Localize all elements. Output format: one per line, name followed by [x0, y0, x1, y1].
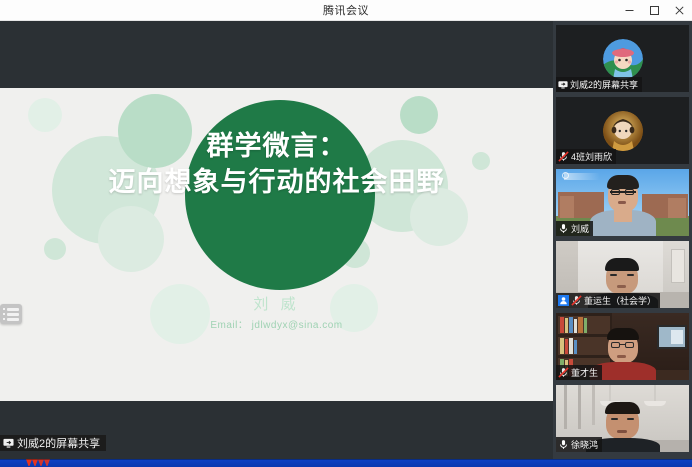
participant-name: 董才生: [571, 366, 598, 379]
tile-label: 董才生: [556, 365, 602, 380]
tile-label: 4班刘雨欣: [556, 149, 616, 164]
avatar: [603, 39, 643, 79]
slide-email: Email： jdlwdyx@sina.com: [0, 316, 553, 331]
slide-author: 刘 威: [0, 293, 553, 314]
microphone-icon: [558, 439, 569, 450]
shared-screen-stage[interactable]: 群学微言： 迈向想象与行动的社会田野 刘 威 Email： jdlwdyx@si…: [0, 21, 553, 459]
toolbar-row: [3, 318, 19, 321]
participant-name: 4班刘雨欣: [571, 150, 612, 163]
close-icon: [674, 5, 685, 16]
tile-label: 董运生（社会学）: [556, 293, 660, 308]
close-button[interactable]: [667, 0, 692, 21]
participant-tile[interactable]: 刘威: [556, 169, 689, 236]
participant-name: 刘威2的屏幕共享: [570, 78, 638, 91]
slide-title: 群学微言： 迈向想象与行动的社会田野: [0, 128, 553, 200]
tile-label: 刘威2的屏幕共享: [556, 77, 642, 92]
microphone-icon: [558, 223, 569, 234]
participant-name: 徐晓鸿: [571, 438, 598, 451]
tencent-meeting-window: 腾讯会议: [0, 0, 692, 459]
meeting-body: 群学微言： 迈向想象与行动的社会田野 刘 威 Email： jdlwdyx@si…: [0, 21, 692, 459]
screen-share-owner-label: 刘威2的屏幕共享: [17, 435, 100, 451]
microphone-muted-icon: [571, 295, 582, 306]
window-controls: [617, 0, 692, 21]
microphone-muted-icon: [558, 367, 569, 378]
maximize-button[interactable]: [642, 0, 667, 21]
window-title: 腾讯会议: [323, 2, 369, 18]
participant-tile[interactable]: 董运生（社会学）: [556, 241, 689, 308]
participant-name: 董运生（社会学）: [584, 294, 656, 307]
participant-name: 刘威: [571, 222, 589, 235]
shared-screen-top-band: [0, 21, 553, 88]
presenter-toolbar[interactable]: [0, 304, 22, 324]
screen-share-icon: [558, 80, 568, 90]
decorative-bubble: [44, 238, 66, 260]
presentation-slide: 群学微言： 迈向想象与行动的社会田野 刘 威 Email： jdlwdyx@si…: [0, 88, 553, 401]
participant-tile[interactable]: 刘威2的屏幕共享: [556, 25, 689, 92]
screen-share-owner-chip: 刘威2的屏幕共享: [0, 435, 106, 451]
window-titlebar[interactable]: 腾讯会议: [0, 0, 692, 21]
minimize-button[interactable]: [617, 0, 642, 21]
screen-share-icon: [3, 438, 14, 449]
participant-tile[interactable]: 徐晓鸿: [556, 385, 689, 452]
minimize-icon: [624, 5, 635, 16]
participant-tile[interactable]: 董才生: [556, 313, 689, 380]
toolbar-row: [3, 308, 19, 311]
participant-tile[interactable]: 4班刘雨欣: [556, 97, 689, 164]
toolbar-row: [3, 313, 19, 316]
decorative-bubble: [98, 206, 164, 272]
decorative-bubble: [28, 98, 62, 132]
host-icon: [558, 295, 569, 306]
tile-label: 刘威: [556, 221, 593, 236]
shared-screen-content: 群学微言： 迈向想象与行动的社会田野 刘 威 Email： jdlwdyx@si…: [0, 21, 553, 459]
participant-strip[interactable]: 刘威2的屏幕共享: [553, 21, 692, 459]
tile-label: 徐晓鸿: [556, 437, 602, 452]
microphone-muted-icon: [558, 151, 569, 162]
maximize-icon: [649, 5, 660, 16]
avatar: [603, 111, 643, 151]
